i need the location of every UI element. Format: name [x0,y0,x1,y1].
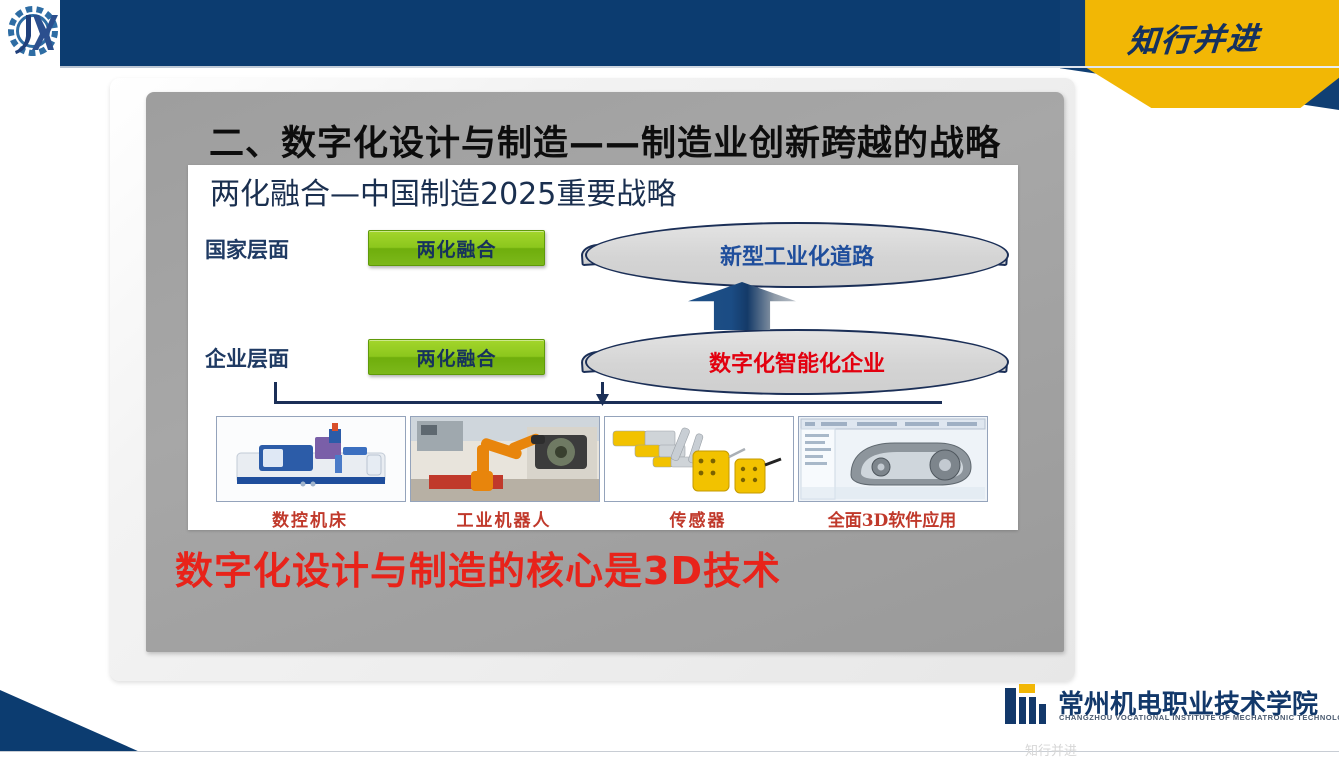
pillar-caption-sensor: 传感器 [604,506,792,531]
pillar-photo-cad [798,416,988,502]
footer-faint-text: 知行并进 [1025,740,1077,759]
chip-integration-national[interactable]: 两化融合 [368,230,545,266]
pillar-caption-cad: 全面3D软件应用 [798,506,986,531]
key-statement-text: 数字化设计与制造的核心是3D技术 [175,540,1045,595]
pillar-photo-sensors [604,416,794,502]
tier-label-enterprise: 企业层面 [205,343,289,373]
school-name-en: CHANGZHOU VOCATIONAL INSTITUTE OF MECHAT… [1059,713,1339,722]
chip-integration-enterprise[interactable]: 两化融合 [368,339,545,375]
top-banner: 知行并进 [0,0,1339,66]
gear-jx-logo-icon [2,2,64,64]
bracket-left-stub [274,382,277,403]
motto-text: 知行并进 [1126,12,1310,62]
header-hairline-divider [60,66,1339,68]
pillar-photo-cnc [216,416,406,502]
footer-blue-triangle [0,690,140,752]
slide-title: 二、数字化设计与制造——制造业创新跨越的战略 [150,115,1060,166]
pillar-caption-robot: 工业机器人 [410,506,598,531]
outcome-ellipse-new-industrialization: 新型工业化道路 [585,222,1009,288]
pillar-caption-cnc: 数控机床 [216,506,404,531]
bracket-horizontal-line [274,401,942,404]
pillar-photo-robot [410,416,600,502]
outcome-ellipse-digital-enterprise: 数字化智能化企业 [585,329,1009,395]
tier-label-national: 国家层面 [205,234,289,264]
cz-institute-bars-logo-icon [1005,684,1051,724]
slide-subtitle: 两化融合—中国制造2025重要战略 [210,169,676,213]
